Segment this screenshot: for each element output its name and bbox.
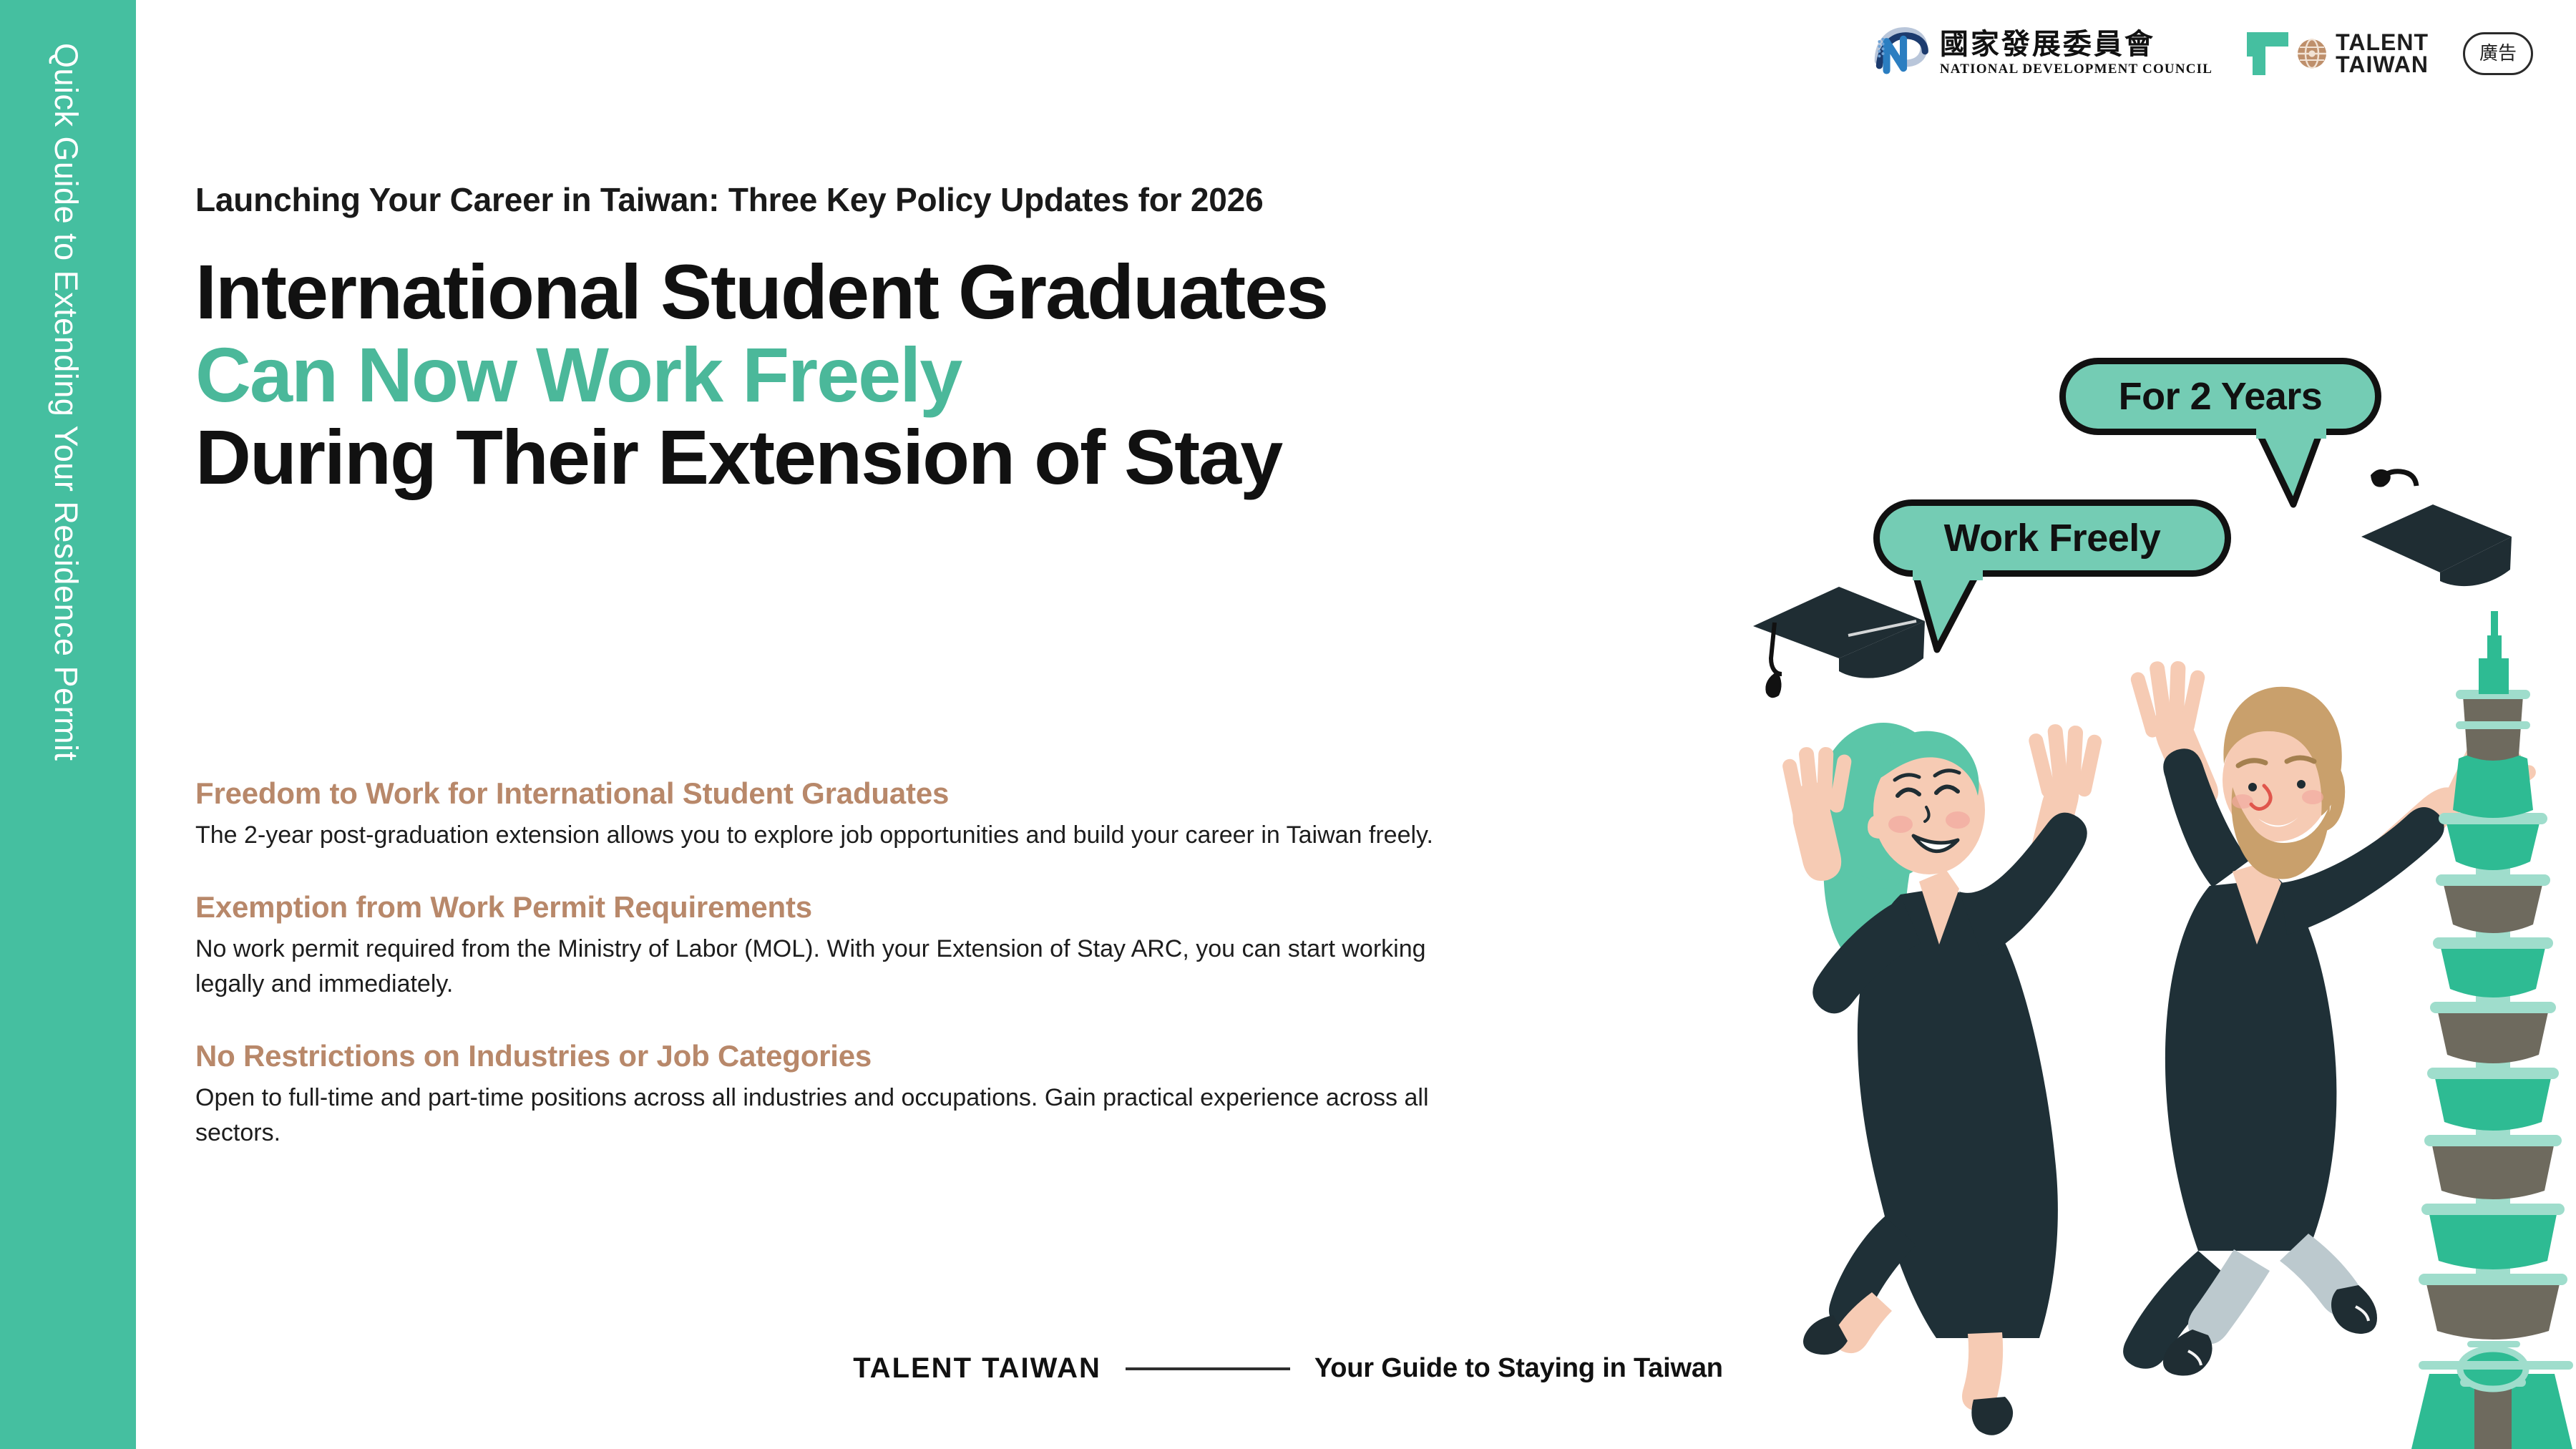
footer: TALENT TAIWAN Your Guide to Staying in T… <box>0 1352 2576 1385</box>
sidebar-title: Quick Guide to Extending Your Residence … <box>47 43 84 761</box>
poster-root: Quick Guide to Extending Your Residence … <box>0 0 2576 1449</box>
ndc-swoosh-icon <box>1870 24 1930 84</box>
talent-taiwan-line1: TALENT <box>2336 31 2429 54</box>
speech-bubble-for-2-years: For 2 Years <box>2059 358 2381 435</box>
section-body: No work permit required from the Ministr… <box>195 932 1498 1002</box>
ndc-logo: 國家發展委員會 NATIONAL DEVELOPMENT COUNCIL <box>1870 24 2212 84</box>
section-heading: Freedom to Work for International Studen… <box>195 776 1555 811</box>
page-title: International Student Graduates Can Now … <box>195 250 1327 499</box>
graduation-cap-left-icon <box>1753 587 1925 698</box>
bubble-tail-icon <box>1908 575 2001 657</box>
headline-line-1: International Student Graduates <box>195 250 1327 333</box>
speech-bubble-work-freely: Work Freely <box>1873 499 2231 577</box>
talent-taiwan-wordmark: TALENT TAIWAN <box>2336 31 2429 75</box>
policy-sections: Freedom to Work for International Studen… <box>195 776 1555 1151</box>
female-graduate-figure <box>1781 723 2103 1435</box>
eyebrow-text: Launching Your Career in Taiwan: Three K… <box>195 180 1263 219</box>
policy-section: Freedom to Work for International Studen… <box>195 776 1555 853</box>
section-heading: Exemption from Work Permit Requirements <box>195 890 1555 924</box>
taiwan-flag-mark-icon <box>2247 32 2288 75</box>
footer-divider <box>1126 1367 1290 1370</box>
advertisement-badge: 廣告 <box>2463 32 2533 75</box>
talent-taiwan-line2: TAIWAN <box>2336 54 2429 76</box>
graduates-illustration <box>1732 444 2576 1449</box>
graduation-cap-right-icon <box>2361 469 2512 586</box>
policy-section: Exemption from Work Permit Requirements … <box>195 890 1555 1002</box>
policy-section: No Restrictions on Industries or Job Cat… <box>195 1039 1555 1151</box>
taipei-101-icon <box>2411 611 2573 1449</box>
ndc-logo-text: 國家發展委員會 NATIONAL DEVELOPMENT COUNCIL <box>1940 29 2212 78</box>
talent-taiwan-logo: TALENT TAIWAN <box>2247 31 2429 75</box>
ndc-english-name: NATIONAL DEVELOPMENT COUNCIL <box>1940 62 2212 78</box>
bubble-tail-icon <box>2252 433 2345 512</box>
footer-brand: TALENT TAIWAN <box>853 1352 1101 1385</box>
bubble-years-label: For 2 Years <box>2119 374 2323 419</box>
ndc-chinese-name: 國家發展委員會 <box>1940 29 2212 59</box>
footer-tagline: Your Guide to Staying in Taiwan <box>1314 1353 1723 1384</box>
section-body: The 2-year post-graduation extension all… <box>195 818 1498 853</box>
headline-line-2: Can Now Work Freely <box>195 333 1327 416</box>
header-logos: 國家發展委員會 NATIONAL DEVELOPMENT COUNCIL <box>1870 14 2533 93</box>
bubble-work-label: Work Freely <box>1944 516 2161 560</box>
headline-line-3: During Their Extension of Stay <box>195 416 1327 499</box>
section-heading: No Restrictions on Industries or Job Cat… <box>195 1039 1555 1073</box>
left-sidebar: Quick Guide to Extending Your Residence … <box>0 0 136 1449</box>
section-body: Open to full-time and part-time position… <box>195 1080 1498 1151</box>
globe-icon <box>2297 39 2327 69</box>
